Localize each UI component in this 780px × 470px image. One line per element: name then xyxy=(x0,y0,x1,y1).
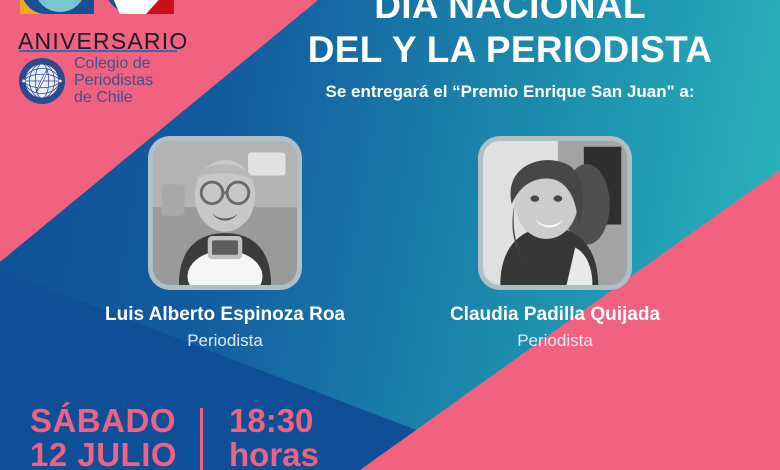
honoree-photo-frame xyxy=(148,136,302,290)
headline-subtitle: Se entregará el “Premio Enrique San Juan… xyxy=(260,82,760,102)
portrait-photo-man xyxy=(153,141,297,285)
event-time-value: 18:30 xyxy=(229,404,319,438)
honorees-list: Luis Alberto Espinoza Roa Periodista xyxy=(60,136,720,351)
event-divider xyxy=(200,408,203,470)
organization-logo: Colegio de Periodistas de Chile xyxy=(18,56,153,107)
event-date: SÁBADO 12 JULIO xyxy=(30,404,190,470)
headline-line-2: DEL Y LA PERIODISTA xyxy=(260,30,760,70)
organization-name: Colegio de Periodistas de Chile xyxy=(74,56,153,107)
event-details: SÁBADO 12 JULIO 18:30 horas xyxy=(30,404,319,470)
event-day-name: SÁBADO xyxy=(30,404,190,438)
honoree-item: Claudia Padilla Quijada Periodista xyxy=(405,136,705,351)
headline-line-1: DÍA NACIONAL xyxy=(260,0,760,26)
honoree-photo-frame xyxy=(478,136,632,290)
portrait-photo-woman xyxy=(483,141,627,285)
poster-canvas: ANIVERSARIO Colegio de Periodistas de Ch… xyxy=(0,0,780,470)
event-time: 18:30 horas xyxy=(229,404,319,470)
honoree-name: Claudia Padilla Quijada xyxy=(405,304,705,326)
honoree-role: Periodista xyxy=(405,331,705,351)
anniversary-divider xyxy=(19,50,177,52)
honoree-role: Periodista xyxy=(75,331,375,351)
honoree-name: Luis Alberto Espinoza Roa xyxy=(75,304,375,326)
honoree-item: Luis Alberto Espinoza Roa Periodista xyxy=(75,136,375,351)
globe-quill-seal-icon xyxy=(18,57,66,105)
event-day-date: 12 JULIO xyxy=(30,438,190,470)
event-time-unit: horas xyxy=(229,438,319,470)
headline-group: DÍA NACIONAL DEL Y LA PERIODISTA Se entr… xyxy=(260,0,760,102)
